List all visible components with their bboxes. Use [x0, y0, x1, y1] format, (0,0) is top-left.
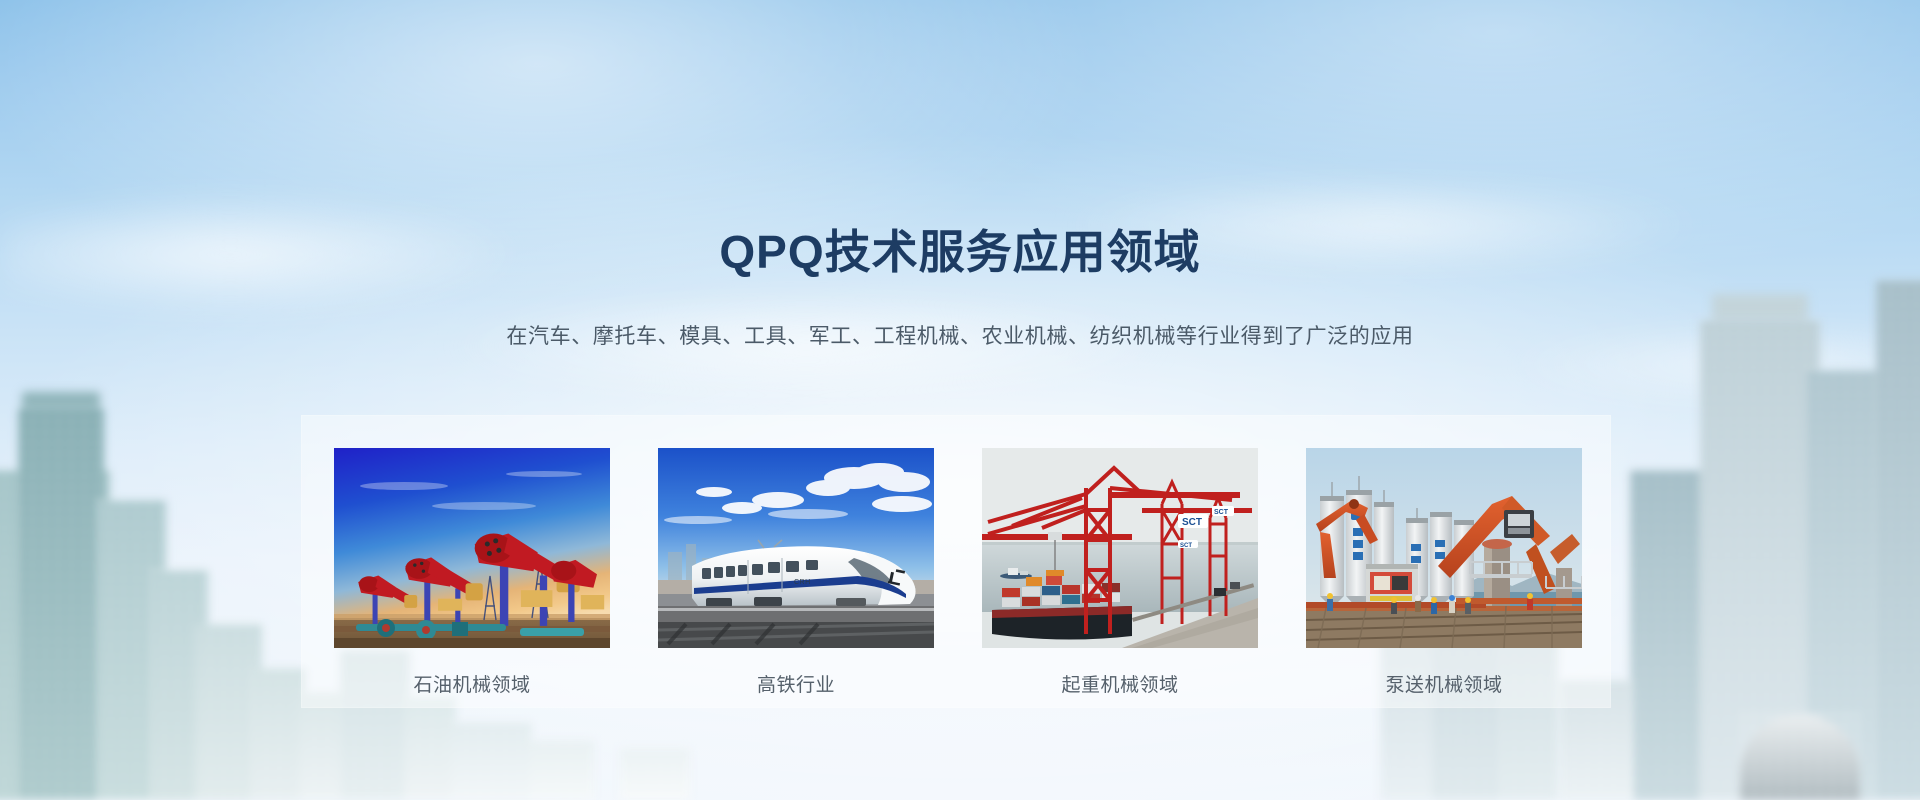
application-card[interactable]: 泵送机械领域	[1306, 448, 1582, 697]
application-card-label: 泵送机械领域	[1306, 670, 1582, 697]
svg-text:SCT: SCT	[1214, 509, 1229, 516]
application-card-label: 石油机械领域	[334, 670, 610, 697]
application-card[interactable]: 石油机械领域	[334, 448, 610, 697]
application-card-label: 高铁行业	[658, 670, 934, 697]
application-card-label: 起重机械领域	[982, 670, 1258, 697]
application-card[interactable]: SCT SCT SCT 起重机械领	[982, 448, 1258, 697]
concrete-pump-image	[1306, 448, 1582, 648]
svg-text:CRH: CRH	[794, 579, 811, 586]
high-speed-train-image: CRH	[658, 448, 934, 648]
application-card-list: 石油机械领域	[334, 448, 1582, 697]
oil-pumpjack-image	[334, 448, 610, 648]
svg-text:SCT: SCT	[1182, 517, 1202, 528]
page-title: QPQ技术服务应用领域	[0, 226, 1920, 279]
applications-panel: 石油机械领域	[301, 415, 1611, 708]
application-card[interactable]: CRH	[658, 448, 934, 697]
port-container-crane-image: SCT SCT SCT	[982, 448, 1258, 648]
page-subtitle: 在汽车、摩托车、模具、工具、军工、工程机械、农业机械、纺织机械等行业得到了广泛的…	[0, 320, 1920, 350]
svg-text:SCT: SCT	[1180, 543, 1192, 549]
